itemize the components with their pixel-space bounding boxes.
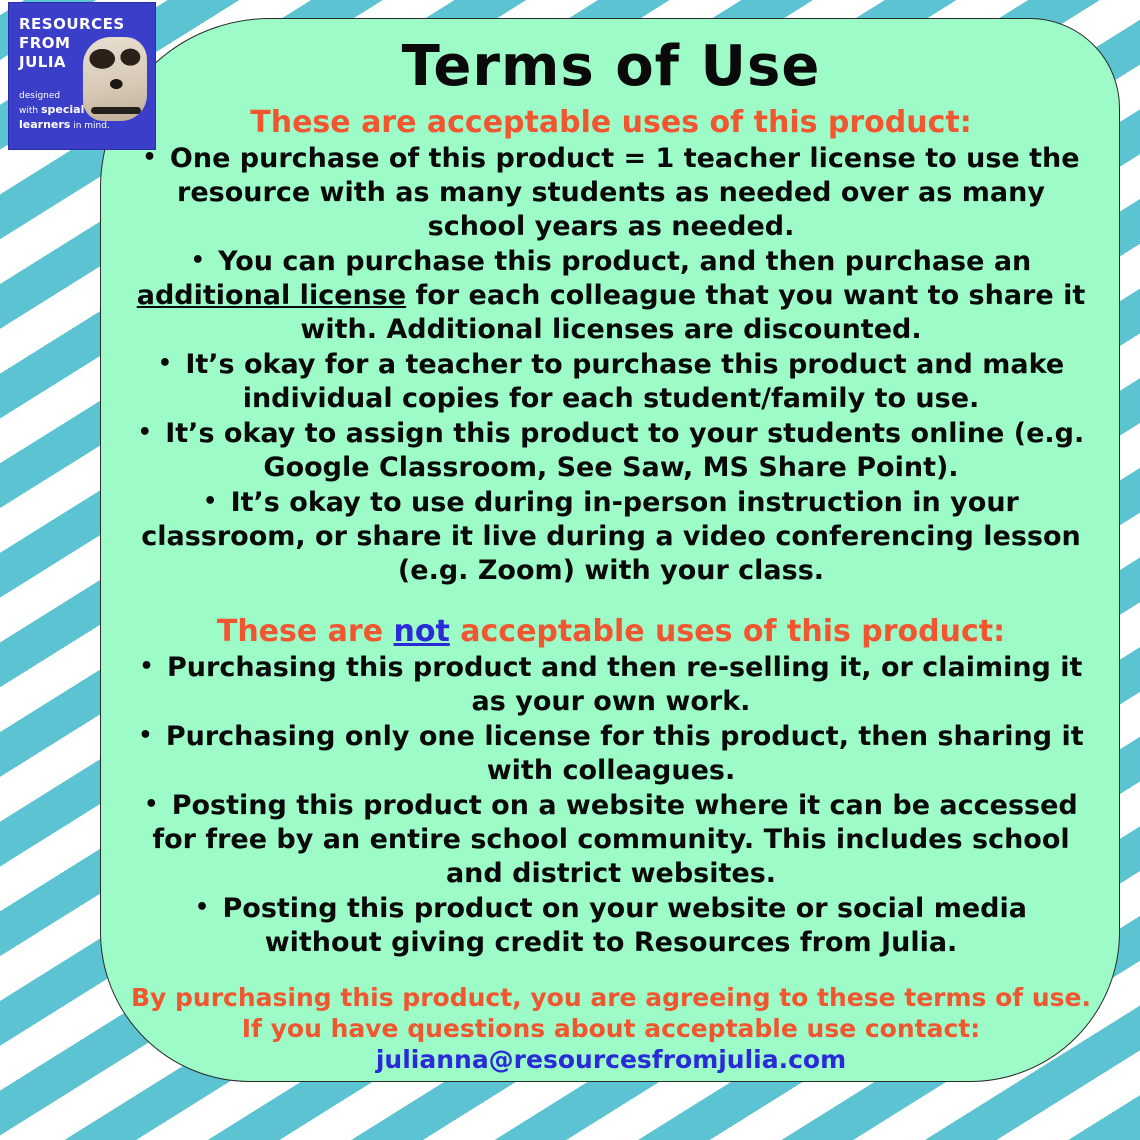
acceptable-heading: These are acceptable uses of this produc… [101,105,1120,141]
tagline-with: with [19,106,41,116]
tagline-line-3: learners in mind. [19,118,149,133]
list-item: • Purchasing only one license for this p… [101,719,1120,788]
terms-of-use-page: Terms of Use These are acceptable uses o… [0,0,1140,1140]
section-gap [101,588,1120,614]
footer-agreement-line: By purchasing this product, you are agre… [101,982,1120,1013]
acceptable-list: • One purchase of this product = 1 teach… [101,141,1120,588]
terms-panel: Terms of Use These are acceptable uses o… [100,18,1120,1082]
tagline-line-2: with special [19,103,149,118]
footer: By purchasing this product, you are agre… [101,982,1120,1075]
bullet-icon: • [195,895,213,920]
list-item-text: One purchase of this product = 1 teacher… [170,143,1080,242]
heading-text-pre: These are [217,614,394,649]
heading-text-post: acceptable uses of this product: [450,614,1005,649]
list-item: • You can purchase this product, and the… [101,244,1120,347]
list-item-text: It’s okay for a teacher to purchase this… [185,349,1064,414]
tagline-line-1: designed [19,89,149,103]
tagline-special: special [41,103,84,116]
list-item: • One purchase of this product = 1 teach… [101,141,1120,244]
heading-emphasis-not: not [394,614,450,649]
list-item-text: It’s okay to assign this product to your… [165,418,1084,483]
tagline-learners: learners [19,118,70,131]
bullet-icon: • [138,723,156,748]
terms-content: Terms of Use These are acceptable uses o… [101,19,1120,1075]
page-title: Terms of Use [101,35,1120,99]
list-item-text: You can purchase this product, and then … [218,246,1031,277]
logo-tagline: designed with special learners in mind. [19,89,149,133]
list-item-text: Posting this product on your website or … [222,893,1026,958]
list-item-text-cont: for each colleague that you want to shar… [300,280,1085,345]
footer-contact-line: If you have questions about acceptable u… [101,1013,1120,1044]
bullet-icon: • [203,489,221,514]
list-item-text: Posting this product on a website where … [152,790,1077,889]
not-acceptable-list: • Purchasing this product and then re-se… [101,650,1120,960]
tagline-in-mind: in mind. [70,121,109,131]
bullet-icon: • [140,654,158,679]
brand-logo-badge: RESOURCES FROM JULIA designed with speci… [8,2,156,150]
not-acceptable-heading: These are not acceptable uses of this pr… [101,614,1120,650]
logo-line-1: RESOURCES [19,15,111,34]
contact-email[interactable]: julianna@resourcesfromjulia.com [101,1044,1120,1075]
bullet-icon: • [158,351,176,376]
bullet-icon: • [191,248,209,273]
list-item: • It’s okay to assign this product to yo… [101,416,1120,485]
list-item-underlined-text: additional license [137,280,406,311]
list-item: • Purchasing this product and then re-se… [101,650,1120,719]
list-item: • It’s okay for a teacher to purchase th… [101,347,1120,416]
list-item-text: It’s okay to use during in-person instru… [141,487,1081,586]
list-item: • Posting this product on a website wher… [101,788,1120,891]
list-item-text: Purchasing only one license for this pro… [166,721,1084,786]
bullet-icon: • [144,792,162,817]
list-item: • Posting this product on your website o… [101,891,1120,960]
bullet-icon: • [138,420,156,445]
list-item-text: Purchasing this product and then re-sell… [167,652,1082,717]
list-item: • It’s okay to use during in-person inst… [101,485,1120,588]
